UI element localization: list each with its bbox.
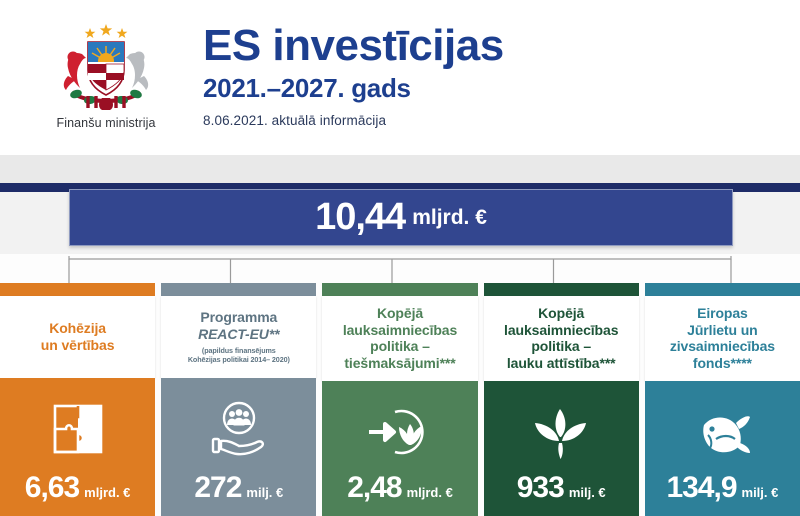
column-label-card: Kopējā lauksaimniecības politika – tiešm… xyxy=(322,296,477,381)
column-body: 6,63 mljrd. € xyxy=(0,378,155,516)
column-label-line3: zivsaimniecības xyxy=(670,338,775,354)
puzzle-icon xyxy=(50,398,106,460)
total-amount-bar: 10,44 mljrd. € xyxy=(69,189,733,246)
column-value: 2,48 xyxy=(347,471,401,505)
sprout-leaves-icon xyxy=(529,401,593,463)
column-label-line2: lauksaimniecības xyxy=(343,322,457,338)
column-body: 933 milj. € xyxy=(484,381,639,516)
page-title: ES investīcijas xyxy=(203,23,504,69)
column-value: 933 xyxy=(517,471,564,505)
column-kap-lauku-attistiba[interactable]: Kopējā lauksaimniecības politika – lauku… xyxy=(484,283,639,516)
column-label-line1: Eiropas xyxy=(697,305,748,321)
latvia-coat-of-arms-icon xyxy=(46,18,166,113)
ministry-name: Finanšu ministrija xyxy=(36,116,176,130)
column-label-line4: lauku attīstība*** xyxy=(507,355,616,371)
column-label-card: Eiropas Jūrlietu un zivsaimniecības fond… xyxy=(645,296,800,381)
column-value-row: 134,9 milj. € xyxy=(645,471,800,505)
column-label-card: Kohēzija un vērtības xyxy=(0,296,155,378)
total-amount-unit: mljrd. € xyxy=(412,206,487,230)
column-value-row: 2,48 mljrd. € xyxy=(322,471,477,505)
column-value-row: 272 milj. € xyxy=(161,471,316,505)
category-columns: Kohēzija un vērtības xyxy=(0,283,800,516)
column-label-line4: tiešmaksājumi*** xyxy=(344,355,455,371)
page-subtitle: 2021.–2027. gads xyxy=(203,73,504,103)
title-block: ES investīcijas 2021.–2027. gads 8.06.20… xyxy=(203,23,504,128)
column-label-card: Programma REACT-EU** (papildus finansēju… xyxy=(161,296,316,378)
column-label-line3: politika – xyxy=(531,338,591,354)
connector-bracket xyxy=(0,254,800,284)
column-label-line1: Kohēzija xyxy=(49,320,106,336)
column-label-line3: politika – xyxy=(370,338,430,354)
column-value-row: 933 milj. € xyxy=(484,471,639,505)
column-react-eu[interactable]: Programma REACT-EU** (papildus finansēju… xyxy=(161,283,316,516)
column-kohezija-un-vertibas[interactable]: Kohēzija un vērtības xyxy=(0,283,155,516)
column-body: 2,48 mljrd. € xyxy=(322,381,477,516)
column-kap-tiesmaksajumi[interactable]: Kopējā lauksaimniecības politika – tiešm… xyxy=(322,283,477,516)
column-label-line1: Programma xyxy=(200,309,277,325)
page-date-note: 8.06.2021. aktuālā informācija xyxy=(203,113,504,128)
header: Finanšu ministrija ES investīcijas 2021.… xyxy=(0,0,800,155)
column-value: 272 xyxy=(194,471,241,505)
column-label-card: Kopējā lauksaimniecības politika – lauku… xyxy=(484,296,639,381)
column-sublabel-line1: (papildus finansējums xyxy=(202,346,276,355)
column-top-band xyxy=(645,283,800,296)
column-top-band xyxy=(484,283,639,296)
column-body: 272 milj. € xyxy=(161,378,316,516)
column-value-row: 6,63 mljrd. € xyxy=(0,471,155,505)
column-top-band xyxy=(0,283,155,296)
column-sublabel-line2: Kohēzijas politikai 2014– 2020) xyxy=(188,355,290,364)
fish-icon xyxy=(690,401,754,463)
column-label-line2: lauksaimniecības xyxy=(504,322,618,338)
column-label-line1: Kopējā xyxy=(377,305,423,321)
column-unit: milj. € xyxy=(246,485,283,500)
column-jurlietu-zivsaimniecibas-fonds[interactable]: Eiropas Jūrlietu un zivsaimniecības fond… xyxy=(645,283,800,516)
column-label-line2: un vērtības xyxy=(41,337,115,353)
column-unit: milj. € xyxy=(742,485,779,500)
column-label-line2: Jūrlietu un xyxy=(687,322,757,338)
arrow-plant-circle-icon xyxy=(365,401,435,463)
infographic-page: Finanšu ministrija ES investīcijas 2021.… xyxy=(0,0,800,516)
column-unit: mljrd. € xyxy=(407,485,453,500)
column-label-italic: REACT-EU** xyxy=(198,326,279,342)
column-top-band xyxy=(161,283,316,296)
column-unit: milj. € xyxy=(569,485,606,500)
column-unit: mljrd. € xyxy=(84,485,130,500)
column-label-line4: fonds**** xyxy=(693,355,752,371)
ministry-logo: Finanšu ministrija xyxy=(36,18,176,130)
column-top-band xyxy=(322,283,477,296)
total-amount-value: 10,44 xyxy=(315,196,405,239)
hand-people-icon xyxy=(207,398,271,460)
column-body: 134,9 milj. € xyxy=(645,381,800,516)
column-value: 6,63 xyxy=(25,471,79,505)
column-label-line1: Kopējā xyxy=(538,305,584,321)
column-value: 134,9 xyxy=(666,471,736,505)
header-divider xyxy=(0,155,800,183)
